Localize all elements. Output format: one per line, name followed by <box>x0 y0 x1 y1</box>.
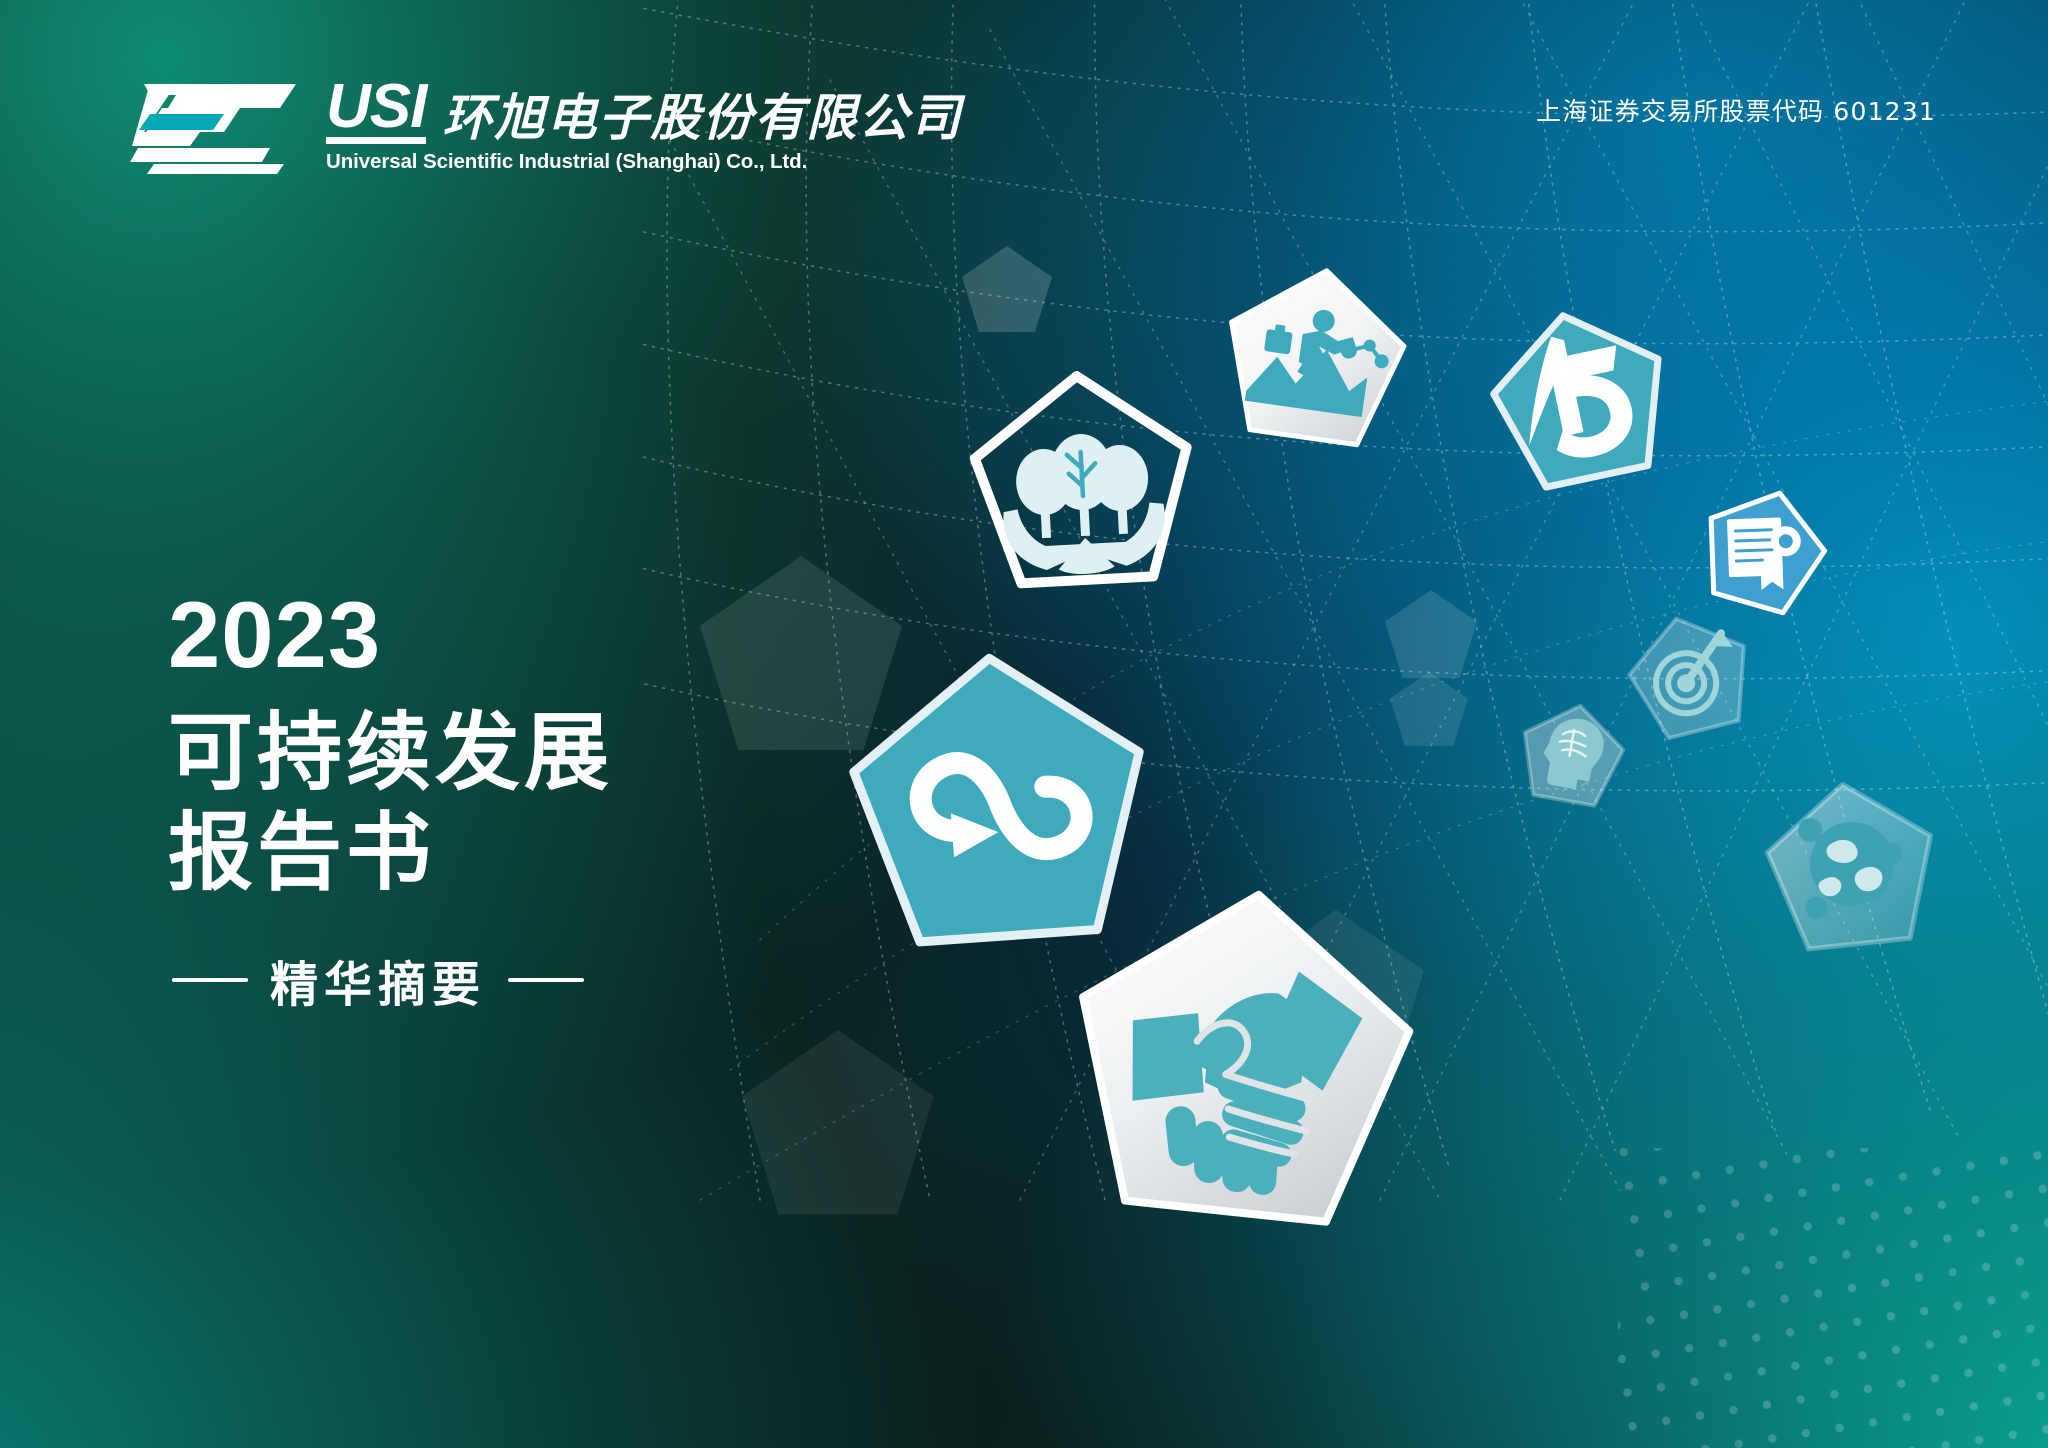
subtitle-row: 精华摘要 <box>172 945 728 1015</box>
report-cover: USI 环旭电子股份有限公司 Universal Scientific Indu… <box>0 0 2048 1448</box>
page-title: 可持续发展 报告书 <box>168 704 728 905</box>
bg-pentagon-small-center <box>1390 672 1468 746</box>
badge-innovation <box>1510 691 1635 814</box>
subtitle-rule-right <box>508 978 584 982</box>
title-line-2: 报告书 <box>168 804 728 904</box>
stock-code-label: 上海证券交易所股票代码 601231 <box>1536 92 1936 128</box>
badge-community <box>1753 769 1948 959</box>
badge-anniversary <box>1474 291 1687 501</box>
bg-pentagon-small-top <box>962 246 1052 332</box>
title-line-1: 可持续发展 <box>168 704 728 804</box>
usi-wordmark: USI <box>326 78 426 144</box>
company-name-en: Universal Scientific Industrial (Shangha… <box>326 150 962 174</box>
company-name-cn: 环旭电子股份有限公司 <box>442 92 962 144</box>
usi-parallelogram-mark-icon <box>120 78 308 179</box>
bg-pentagon-mid-center <box>1385 590 1477 678</box>
cover-title-block: 2023 可持续发展 报告书 精华摘要 <box>168 588 728 1015</box>
subtitle-text: 精华摘要 <box>270 945 486 1015</box>
subtitle-rule-left <box>172 978 248 982</box>
badge-growth <box>1210 252 1419 456</box>
dot-grid-pattern <box>1618 1148 2048 1448</box>
badge-target <box>1613 598 1767 749</box>
cover-header: USI 环旭电子股份有限公司 Universal Scientific Indu… <box>0 0 2048 210</box>
badge-partnership <box>1051 869 1432 1240</box>
badge-environment <box>962 362 1201 594</box>
bg-pentagon-lower-left <box>742 1030 934 1214</box>
trees-in-hands-icon <box>999 430 1167 578</box>
usi-logo: USI 环旭电子股份有限公司 Universal Scientific Indu… <box>120 78 962 179</box>
title-year: 2023 <box>168 588 728 682</box>
badge-certificate <box>1685 471 1842 625</box>
